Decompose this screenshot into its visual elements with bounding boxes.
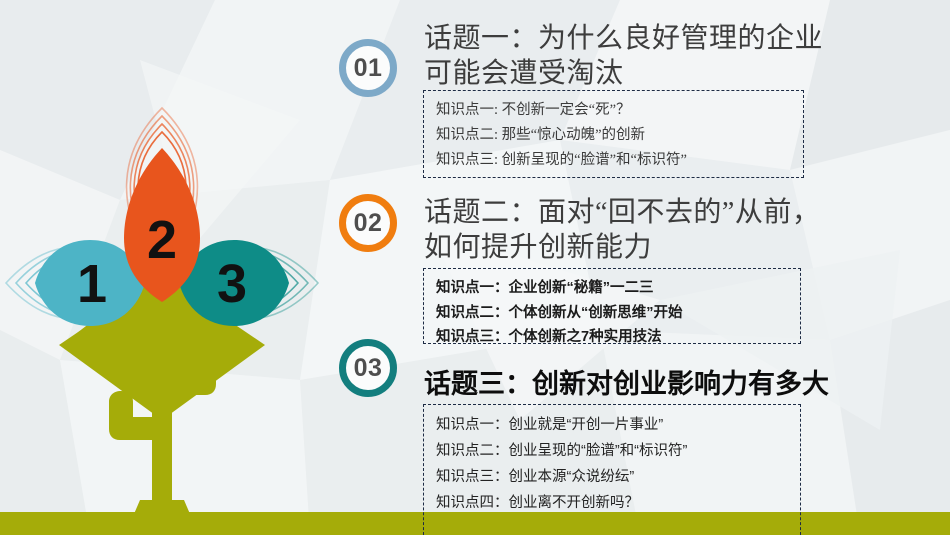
leaf-three-number: 3	[217, 254, 247, 314]
knowledge-points-box-02: 知识点一：企业创新“秘籍”一二三 知识点二：个体创新从“创新思维”开始 知识点三…	[423, 268, 801, 344]
section-badge-02[interactable]: 02	[339, 194, 397, 252]
section-title-02: 话题二：面对“回不去的”从前， 如何提升创新能力	[424, 196, 944, 265]
knowledge-point: 知识点三: 创新呈现的“脸谱”和“标识符”	[436, 148, 793, 173]
knowledge-point: 知识点三：个体创新之7种实用技法	[436, 325, 790, 350]
leaf-one-number: 1	[77, 254, 107, 314]
knowledge-point: 知识点三：创业本源“众说纷纭”	[436, 464, 790, 490]
leaf-two-number: 2	[147, 210, 177, 270]
section-title-03: 话题三：创新对创业影响力有多大	[424, 368, 944, 401]
knowledge-point: 知识点一：企业创新“秘籍”一二三	[436, 276, 790, 301]
knowledge-point: 知识点一：创业就是“开创一片事业”	[436, 412, 790, 438]
knowledge-points-box-01: 知识点一: 不创新一定会“死”？ 知识点二: 那些“惊心动魄”的创新 知识点三:…	[423, 90, 804, 178]
knowledge-points-box-03: 知识点一：创业就是“开创一片事业” 知识点二：创业呈现的“脸谱”和“标识符” 知…	[423, 404, 801, 535]
section-badge-03[interactable]: 03	[339, 339, 397, 397]
knowledge-point: 知识点二：个体创新从“创新思维”开始	[436, 301, 790, 326]
knowledge-point: 知识点一: 不创新一定会“死”？	[436, 98, 793, 123]
tree-graphic: 1 2 3	[0, 0, 330, 535]
knowledge-point: 知识点二: 那些“惊心动魄”的创新	[436, 123, 793, 148]
knowledge-point: 知识点二：创业呈现的“脸谱”和“标识符”	[436, 438, 790, 464]
section-title-01: 话题一：为什么良好管理的企业 可能会遭受淘汰	[424, 22, 944, 91]
slide-canvas: 1 2 3 01 话题一：为什么良好管理的企业 可能会遭受淘汰 知识点一: 不创…	[0, 0, 950, 535]
section-badge-01[interactable]: 01	[339, 39, 397, 97]
knowledge-point: 知识点四：创业离不开创新吗？	[436, 490, 790, 516]
